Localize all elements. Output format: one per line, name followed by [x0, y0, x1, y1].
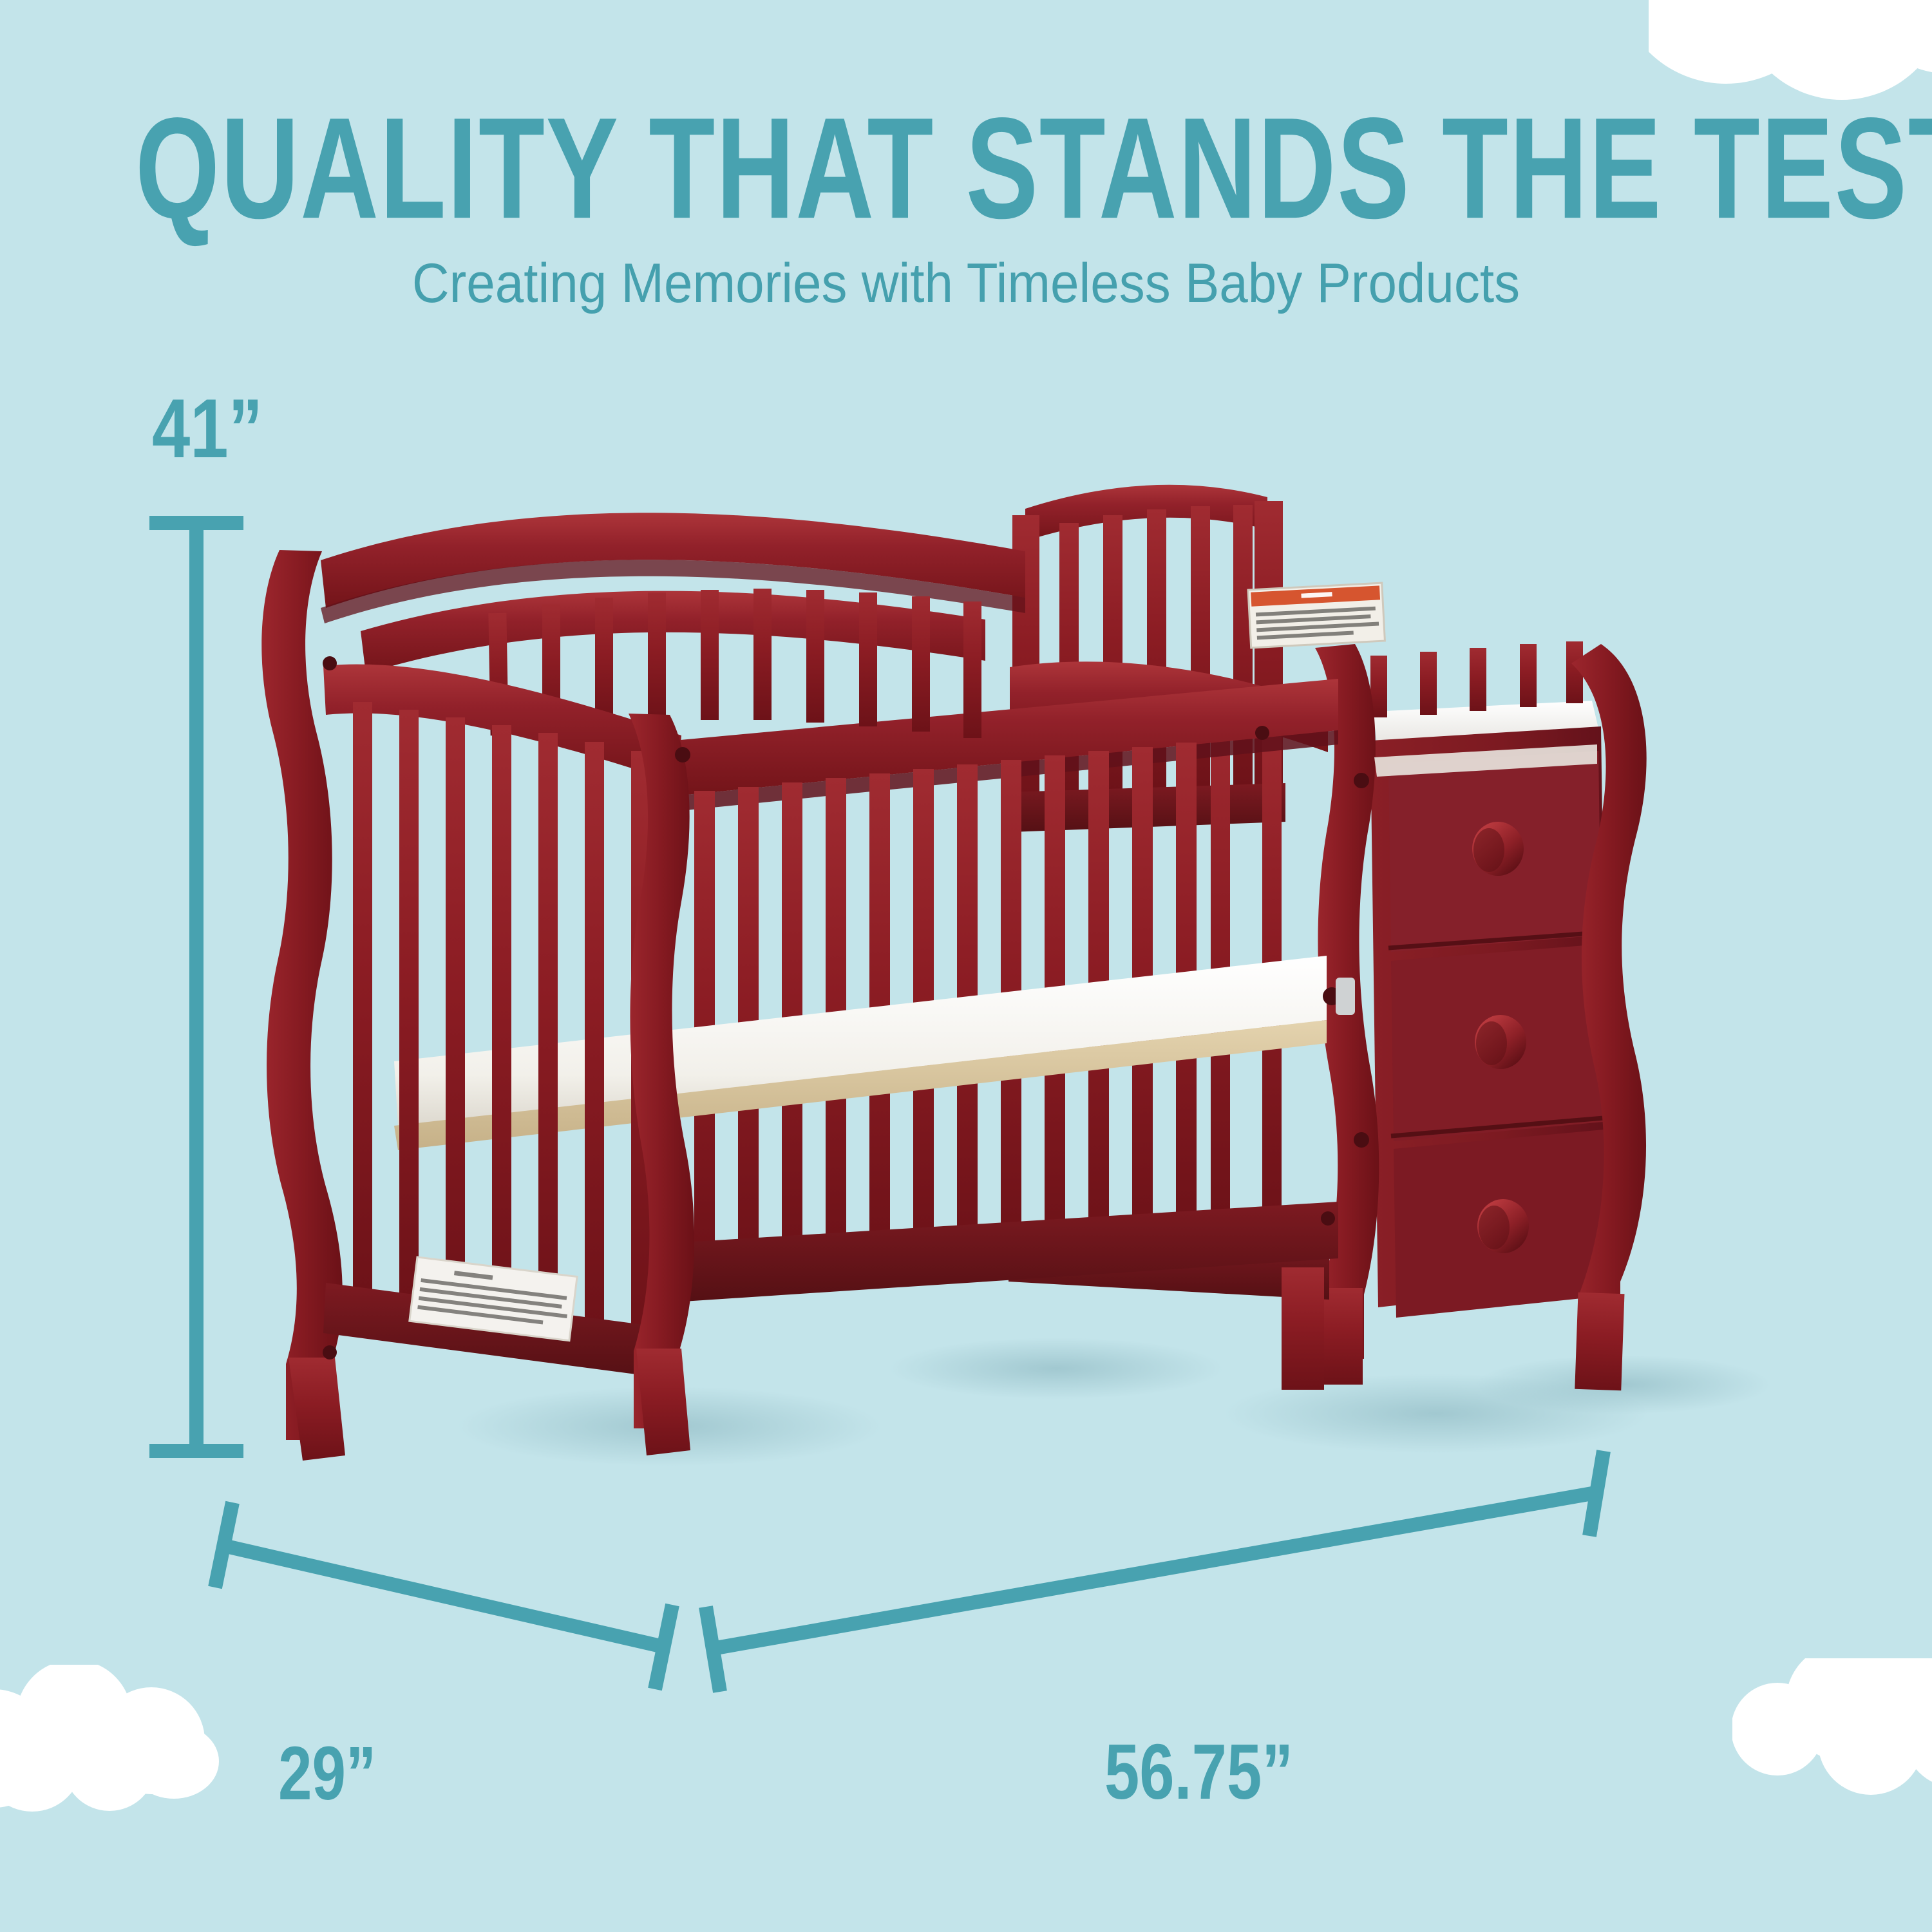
- infographic-canvas: QUALITY THAT STANDS THE TEST OF TIME Cre…: [0, 0, 1932, 1932]
- left-side-slats: [353, 702, 650, 1342]
- product-image-crib-and-changer: [0, 0, 1932, 1932]
- warning-label-upper: [1248, 583, 1385, 648]
- crib-left-side-panel: [323, 665, 694, 1455]
